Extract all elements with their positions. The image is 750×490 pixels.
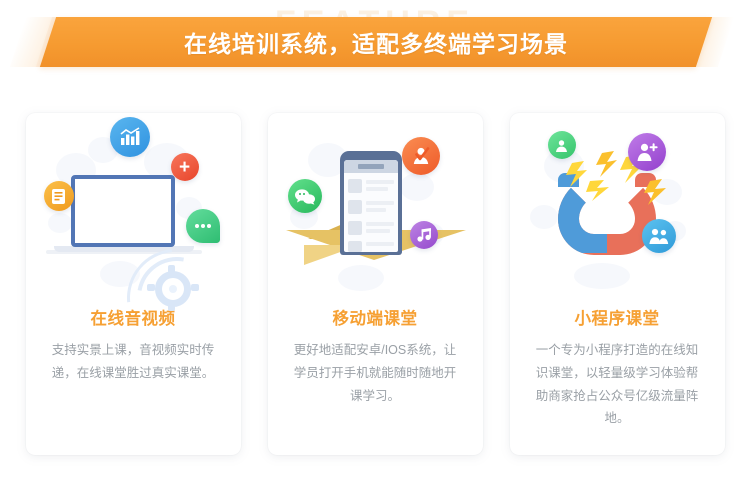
check-user-icon [402,137,440,175]
feature-card-online-av[interactable]: + 在线音视频 支持实景上课，音视频实时传递，在线课堂胜过真实课堂。 [26,113,241,455]
check-user-icon-glyph [409,144,433,168]
card-description: 支持实景上课，音视频实时传递，在线课堂胜过真实课堂。 [48,339,218,385]
card-description: 更好地适配安卓/IOS系统，让学员打开手机就能随时随地开课学习。 [290,339,460,407]
illustration-magnet [510,113,725,303]
feature-card-mobile-classroom[interactable]: 移动端课堂 更好地适配安卓/IOS系统，让学员打开手机就能随时随地开课学习。 [268,113,483,455]
card-title: 移动端课堂 [333,305,418,329]
chat-icon-glyph [193,222,213,230]
chart-icon-glyph [119,127,141,147]
decor-blob [400,173,434,201]
wechat-icon-glyph [294,188,316,205]
phone-title-placeholder [358,164,384,169]
card-description: 一个专为小程序打造的在线知识课堂，以轻量级学习体验帮助商家抢占公众号亿级流量阵地… [532,339,702,430]
decor-blob [338,265,384,291]
music-icon [410,221,438,249]
plus-icon: + [171,153,199,181]
music-icon-glyph [416,227,432,243]
users-group-icon [642,219,676,253]
phone-screen [344,160,398,252]
card-title: 小程序课堂 [575,305,660,329]
illustration-laptop: + [26,113,241,303]
decor-blob [574,263,630,289]
banner-title: 在线培训系统，适配多终端学习场景 [184,25,568,59]
user-add-icon-glyph [635,141,659,163]
chat-icon [186,209,220,243]
feature-card-list: + 在线音视频 支持实景上课，音视频实时传递，在线课堂胜过真实课堂。 [0,113,750,458]
feature-card-miniprogram-classroom[interactable]: 小程序课堂 一个专为小程序打造的在线知识课堂，以轻量级学习体验帮助商家抢占公众号… [510,113,725,455]
page-banner: FEATURE 在线培训系统，适配多终端学习场景 [0,0,750,92]
decor-blob [48,213,72,233]
wechat-icon [288,179,322,213]
laptop-screen [71,175,175,247]
document-icon [44,181,74,211]
banner-bar: 在线培训系统，适配多终端学习场景 [40,17,712,67]
user-icon-glyph [554,138,569,153]
phone-device [340,151,402,255]
chart-icon [110,117,150,157]
user-icon [548,131,576,159]
users-group-icon-glyph [648,226,670,246]
user-add-icon [628,133,666,171]
document-icon-glyph [51,188,66,205]
phone-status-bar [344,160,398,173]
illustration-phone-plane [268,113,483,303]
